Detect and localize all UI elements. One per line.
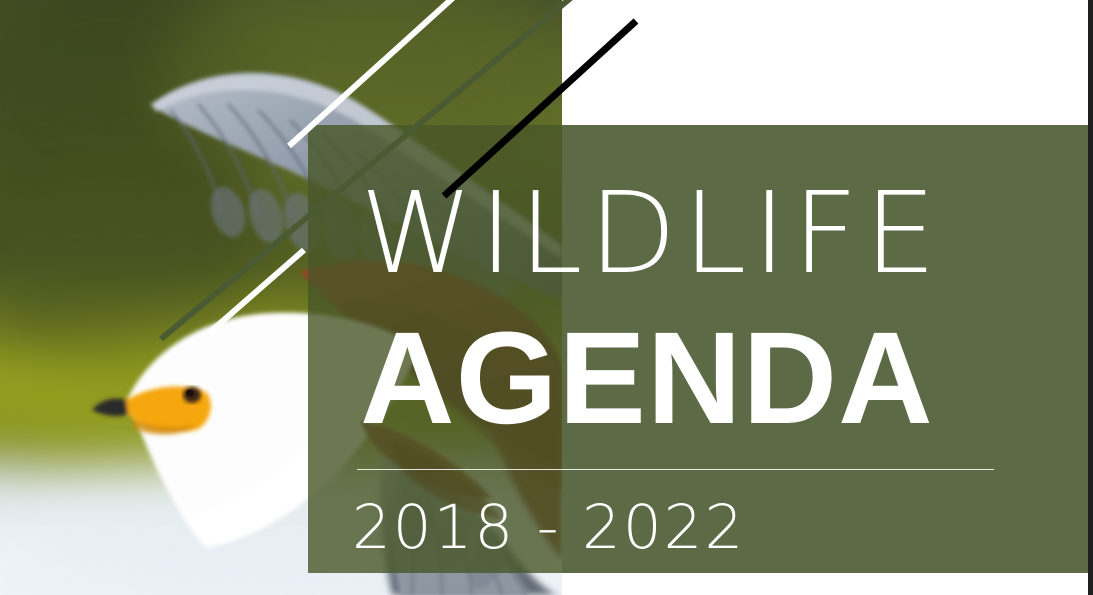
title-block: WILDLIFE AGENDA 2018 - 2022	[360, 178, 1060, 558]
title-divider-rule	[357, 469, 994, 470]
cover-title-wildlife: WILDLIFE	[360, 178, 1074, 290]
cover-page: WILDLIFE AGENDA 2018 - 2022	[0, 0, 1093, 595]
right-edge-strip	[1088, 0, 1093, 595]
cover-title-agenda: AGENDA	[360, 312, 1060, 443]
cover-subtitle-years: 2018 - 2022	[352, 497, 1060, 558]
